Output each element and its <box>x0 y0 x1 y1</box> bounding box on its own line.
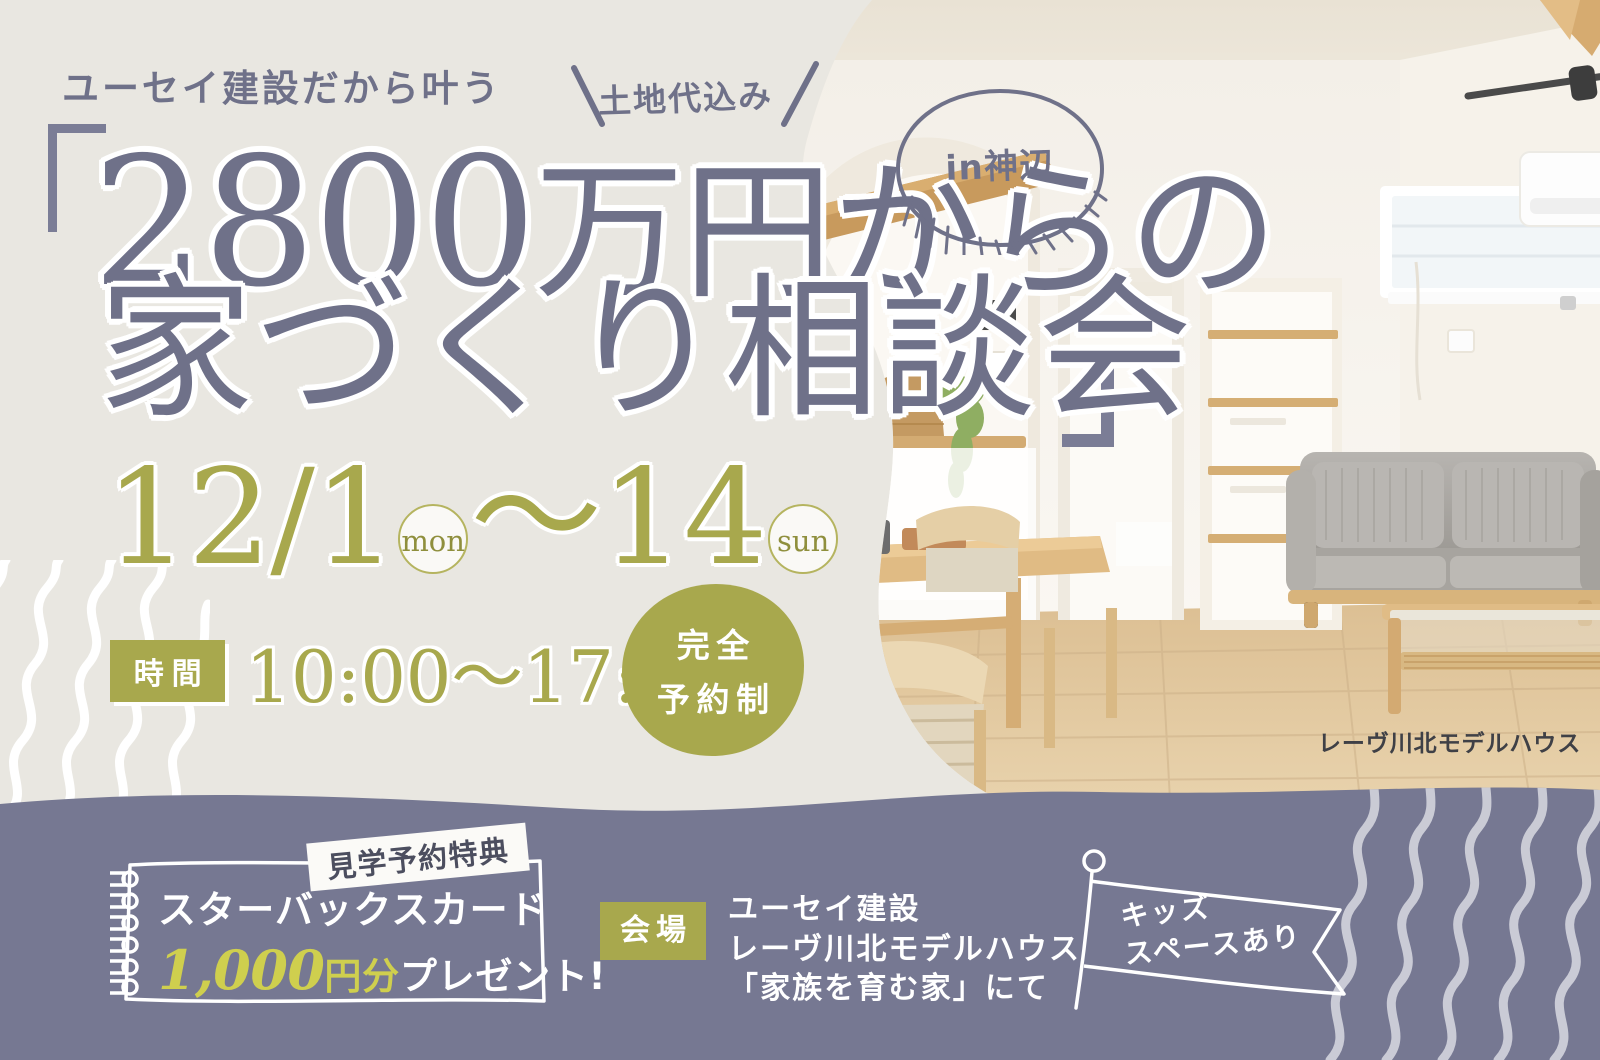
gift-body: スターバックスカード 1,000円分プレゼント! <box>158 879 538 1002</box>
flyer-canvas: レーヴ川北モデルハウス ユーセイ建設だから叶う <box>0 0 1600 1060</box>
dow-end-badge: sun <box>768 504 838 574</box>
venue-label-chip: 会場 <box>600 902 706 960</box>
location-bubble: in神辺 <box>890 85 1110 255</box>
land-cost-note-label: 土地代込み <box>597 69 773 123</box>
venue-line-2: レーヴ川北モデルハウス <box>728 930 1081 970</box>
gift-line-2: 1,000円分プレゼント! <box>158 938 538 1002</box>
date-range-mark: 〜 <box>470 441 601 595</box>
dow-start-badge: mon <box>398 504 468 574</box>
gift-present-word: プレゼント! <box>400 955 606 998</box>
date-start: 12/1 <box>105 441 396 595</box>
kids-space-flag: キッズ スペースあり <box>1062 848 1362 1013</box>
venue-address: ユーセイ建設 レーヴ川北モデルハウス 「家族を育む家」にて <box>728 890 1081 1009</box>
time-label-chip: 時間 <box>110 640 225 702</box>
date-end: 14 <box>601 441 766 595</box>
content-layer: ユーセイ建設だから叶う 2800万円からの 家づくり相談会 土地代込み <box>0 0 1600 1060</box>
location-bubble-label: in神辺 <box>889 135 1111 192</box>
gift-amount-unit: 円分 <box>324 955 399 998</box>
venue-line-3: 「家族を育む家」にて <box>728 969 1081 1009</box>
reservation-badge-label: 完全 予約制 <box>620 582 806 758</box>
headline-line-2: 家づくり相談会 <box>98 272 1194 427</box>
land-cost-note: 土地代込み <box>560 60 830 132</box>
venue-block: 会場 ユーセイ建設 レーヴ川北モデルハウス 「家族を育む家」にて <box>600 890 1081 1009</box>
gift-memo: 見学予約特典 スターバックスカード 1,000円分プレゼント! <box>100 855 550 1005</box>
event-date-row: 12/1mon〜14sun <box>105 455 840 585</box>
slash-right-icon <box>784 64 816 124</box>
gift-line-1: スターバックスカード <box>158 879 538 934</box>
gift-amount: 1,000 <box>158 938 324 1002</box>
tagline: ユーセイ建設だから叶う <box>62 58 502 112</box>
reservation-badge: 完全 予約制 <box>620 582 806 758</box>
reservation-badge-line2: 予約制 <box>650 673 775 721</box>
venue-line-1: ユーセイ建設 <box>728 890 1081 930</box>
reservation-badge-line1: 完全 <box>670 619 756 667</box>
